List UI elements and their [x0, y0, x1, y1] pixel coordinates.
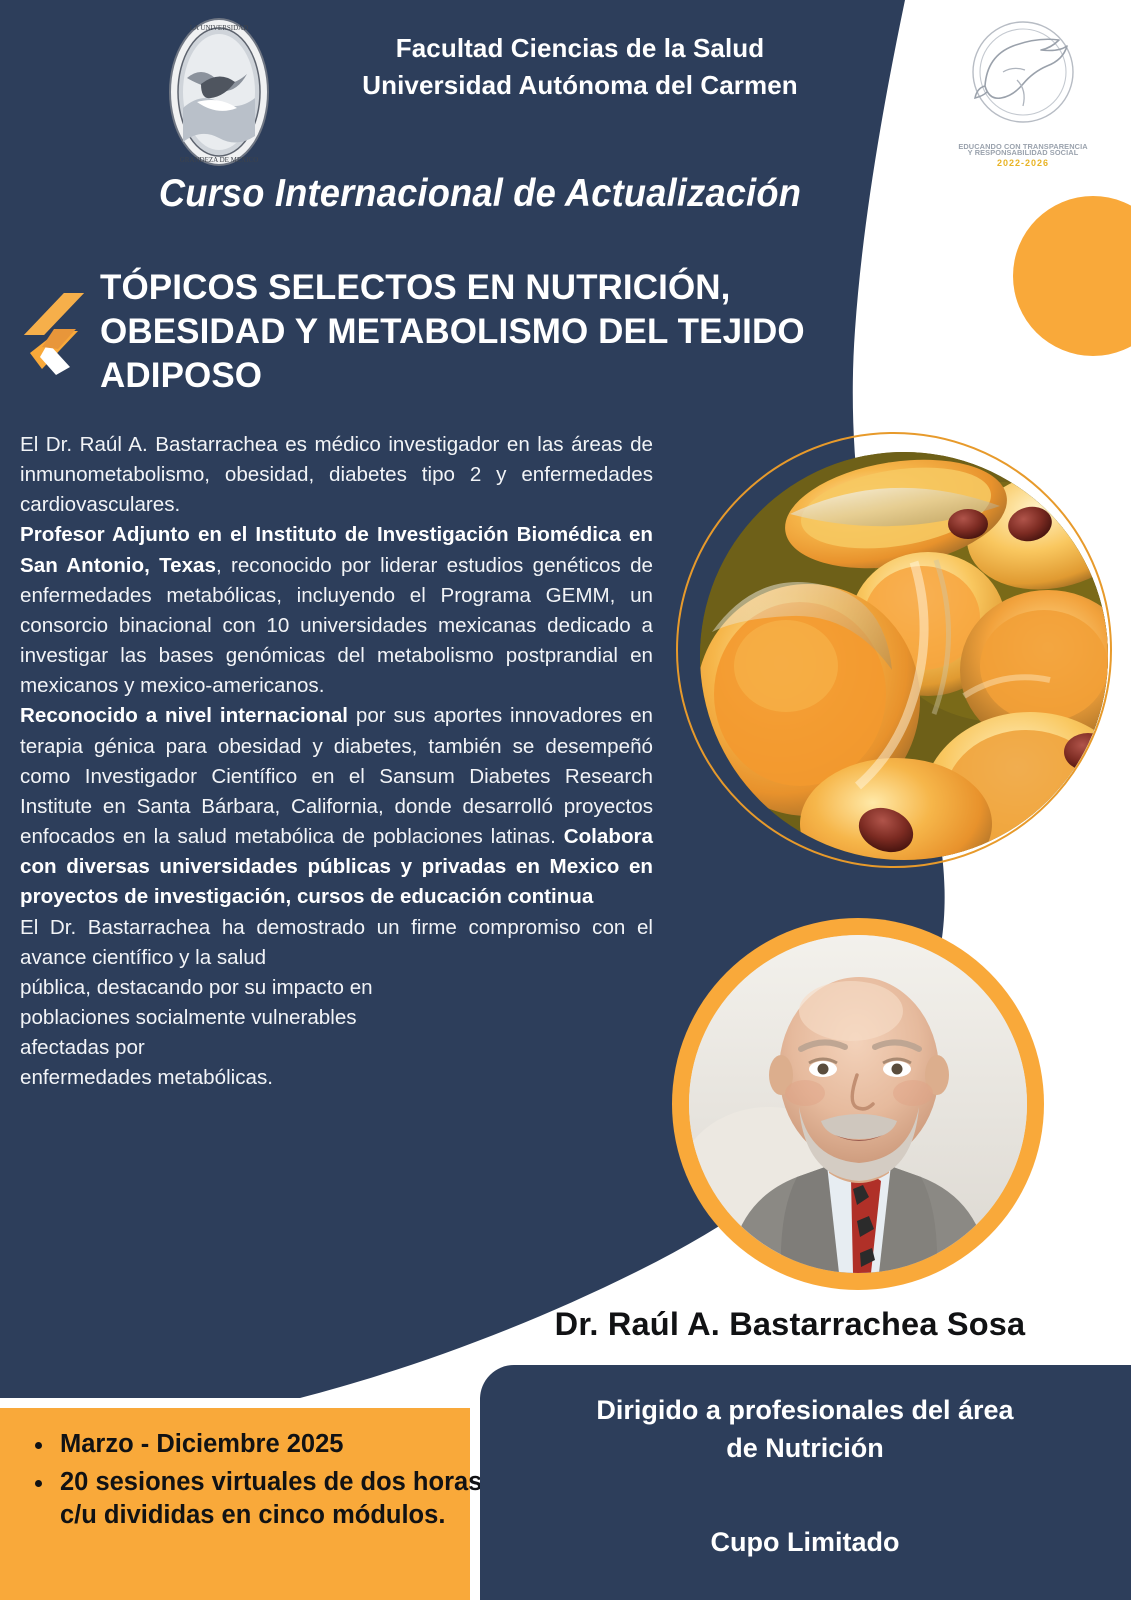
bio-p3-bold: Reconocido a nivel internacional	[20, 704, 348, 727]
schedule-panel: Marzo - Diciembre 2025 20 sesiones virtu…	[0, 1408, 470, 1600]
course-kicker: Curso Internacional de Actualización	[34, 172, 927, 216]
chevron-mark-icon	[18, 287, 90, 379]
accent-circle-decoration	[1013, 196, 1131, 356]
dolphin-icon	[933, 14, 1113, 140]
adipocyte-cells-image	[700, 452, 1108, 860]
svg-text:LA UNIVERSIDAD: LA UNIVERSIDAD	[190, 24, 249, 32]
audience-panel: Dirigido a profesionales del área de Nut…	[480, 1365, 1131, 1600]
speaker-photo	[689, 935, 1027, 1273]
bio-paragraph-4: El Dr. Bastarrachea ha demostrado un fir…	[20, 913, 653, 973]
faculty-name: Facultad Ciencias de la Salud	[270, 30, 890, 67]
university-name: Universidad Autónoma del Carmen	[270, 67, 890, 104]
bio-paragraph-8: enfermedades metabólicas.	[20, 1063, 653, 1093]
list-item: Marzo - Diciembre 2025	[56, 1428, 506, 1461]
university-seal-logo: LA UNIVERSIDAD GRANDEZA DE MEXICO	[167, 16, 271, 168]
dolphin-emblem-logo: EDUCANDO CON TRANSPARENCIA Y RESPONSABIL…	[933, 14, 1113, 174]
audience-line-1: Dirigido a profesionales del área	[520, 1391, 1090, 1429]
header-institution-titles: Facultad Ciencias de la Salud Universida…	[270, 30, 890, 104]
speaker-bio: El Dr. Raúl A. Bastarrachea es médico in…	[20, 430, 653, 1093]
speaker-name: Dr. Raúl A. Bastarrachea Sosa	[480, 1306, 1100, 1343]
bio-paragraph-6: poblaciones socialmente vulnerables	[20, 1003, 653, 1033]
speaker-avatar	[672, 918, 1044, 1290]
bio-paragraph-7: afectadas por	[20, 1033, 653, 1063]
poster-canvas: LA UNIVERSIDAD GRANDEZA DE MEXICO Facult…	[0, 0, 1131, 1600]
bio-paragraph-1: El Dr. Raúl A. Bastarrachea es médico in…	[20, 430, 653, 520]
audience-text: Dirigido a profesionales del área de Nut…	[520, 1391, 1090, 1468]
schedule-bullet-list: Marzo - Diciembre 2025 20 sesiones virtu…	[14, 1428, 506, 1537]
bio-paragraph-3: Reconocido a nivel internacional por sus…	[20, 701, 653, 912]
list-item: 20 sesiones virtuales de dos horas c/u d…	[56, 1466, 506, 1532]
logo-years: 2022-2026	[933, 158, 1113, 168]
page-title: TÓPICOS SELECTOS EN NUTRICIÓN, OBESIDAD …	[100, 266, 890, 398]
audience-line-2: de Nutrición	[520, 1429, 1090, 1467]
bio-paragraph-5: pública, destacando por su impacto en	[20, 973, 653, 1003]
svg-text:GRANDEZA DE MEXICO: GRANDEZA DE MEXICO	[180, 156, 259, 164]
bio-paragraph-2: Profesor Adjunto en el Instituto de Inve…	[20, 520, 653, 701]
cupo-limitado-text: Cupo Limitado	[520, 1527, 1090, 1558]
